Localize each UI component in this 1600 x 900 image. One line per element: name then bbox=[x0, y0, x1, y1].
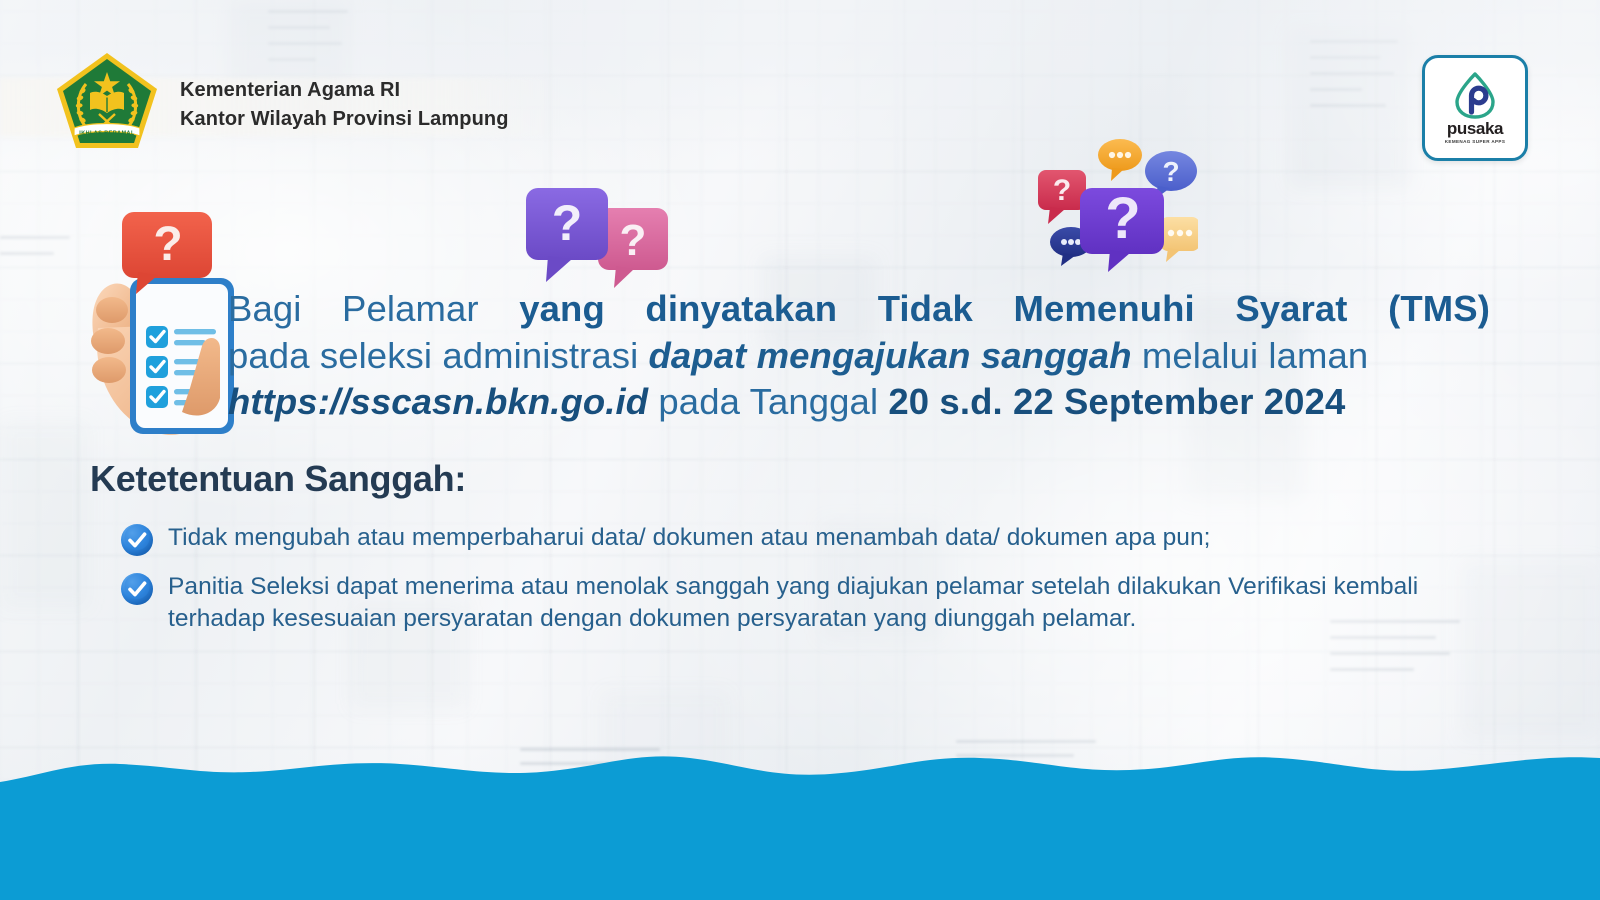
headline-line-3: https://sscasn.bkn.go.id pada Tanggal 20… bbox=[228, 379, 1490, 426]
speech-bubble-cream-icon bbox=[1160, 217, 1198, 262]
list-item-text: Tidak mengubah atau memperbaharui data/ … bbox=[168, 522, 1211, 554]
svg-text:?: ? bbox=[153, 218, 182, 271]
svg-text:?: ? bbox=[1162, 156, 1179, 187]
header: IKHLAS BERAMAL Kementerian Agama RI Kant… bbox=[52, 48, 509, 158]
ketentuan-list: Tidak mengubah atau memperbaharui data/ … bbox=[120, 522, 1520, 636]
speech-bubble-orange-icon bbox=[1098, 139, 1142, 181]
hand-holding-phone-checklist-icon: ? bbox=[78, 198, 248, 448]
poster-canvas: IKHLAS BERAMAL Kementerian Agama RI Kant… bbox=[0, 0, 1600, 900]
check-circle-icon bbox=[120, 523, 154, 557]
headline-l2-tail: melalui laman bbox=[1132, 335, 1369, 376]
svg-text:IKHLAS BERAMAL: IKHLAS BERAMAL bbox=[79, 130, 135, 136]
section-title: Ketetentuan Sanggah: bbox=[90, 458, 466, 500]
pusaka-subtitle: KEMENAG SUPER APPS bbox=[1445, 140, 1506, 145]
speech-bubbles-left-group: ? ? bbox=[520, 182, 680, 292]
speech-bubble-purple-large-icon: ? bbox=[1080, 186, 1164, 272]
headline-line-1: Bagi Pelamar yang dinyatakan Tidak Memen… bbox=[228, 286, 1490, 333]
check-circle-icon bbox=[120, 572, 154, 606]
speech-bubbles-right-group: ? ? ? bbox=[1008, 128, 1198, 278]
sscasn-url-text[interactable]: https://sscasn.bkn.go.id bbox=[228, 381, 648, 422]
list-item: Panitia Seleksi dapat menerima atau meno… bbox=[120, 571, 1520, 636]
headline-l2-regular: pada seleksi administrasi bbox=[228, 335, 649, 376]
svg-text:?: ? bbox=[1053, 174, 1071, 207]
speech-bubble-crimson-icon: ? bbox=[1038, 170, 1086, 224]
bottom-wave-banner bbox=[0, 740, 1600, 900]
header-ministry-text: Kementerian Agama RI Kantor Wilayah Prov… bbox=[180, 73, 509, 133]
svg-text:?: ? bbox=[552, 195, 583, 251]
headline-l1-bold: yang dinyatakan Tidak Memenuhi Syarat (T… bbox=[519, 288, 1490, 329]
speech-bubble-pink-icon: ? bbox=[598, 208, 668, 288]
ministry-name-line1: Kementerian Agama RI bbox=[180, 77, 509, 104]
list-item-text: Panitia Seleksi dapat menerima atau meno… bbox=[168, 571, 1513, 636]
headline-l3-regular: pada Tanggal bbox=[648, 381, 888, 422]
pusaka-app-logo: pusaka KEMENAG SUPER APPS bbox=[1422, 55, 1528, 161]
svg-text:?: ? bbox=[1105, 186, 1140, 251]
ministry-name-line2: Kantor Wilayah Provinsi Lampung bbox=[180, 106, 509, 133]
list-item: Tidak mengubah atau memperbaharui data/ … bbox=[120, 522, 1520, 557]
kemenag-pentagon-emblem-icon: IKHLAS BERAMAL bbox=[52, 48, 162, 158]
headline-l1-regular: Bagi Pelamar bbox=[228, 288, 519, 329]
headline-line-2: pada seleksi administrasi dapat mengajuk… bbox=[228, 333, 1490, 380]
pusaka-droplet-icon bbox=[1452, 71, 1498, 119]
headline-l2-bold-italic: dapat mengajukan sanggah bbox=[649, 335, 1132, 376]
speech-bubble-purple-icon: ? bbox=[526, 188, 608, 282]
pusaka-wordmark: pusaka bbox=[1447, 120, 1503, 137]
headline-block: Bagi Pelamar yang dinyatakan Tidak Memen… bbox=[228, 286, 1490, 426]
svg-text:?: ? bbox=[620, 216, 647, 265]
sanggah-date-range: 20 s.d. 22 September 2024 bbox=[888, 381, 1345, 422]
